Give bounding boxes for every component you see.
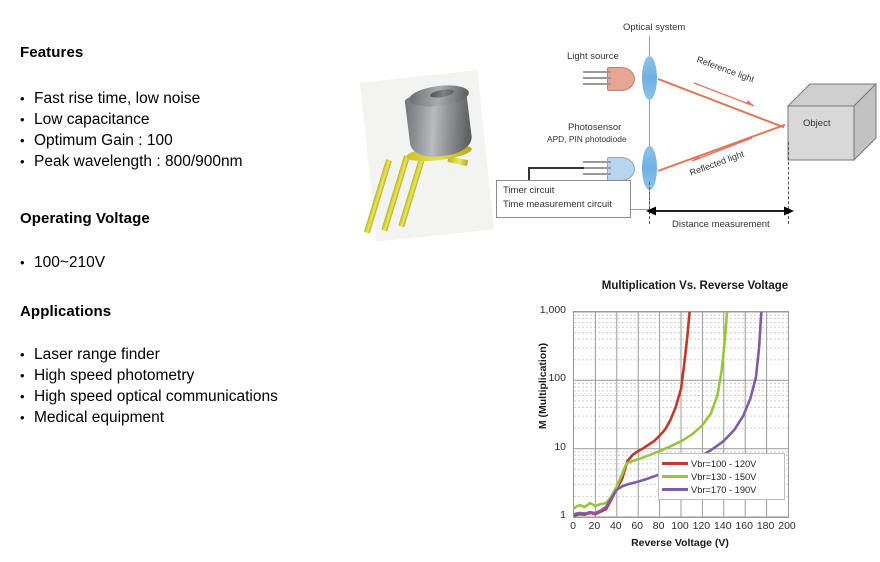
list-item: • 100~210V [20, 252, 105, 273]
list-item-label: High speed photometry [34, 365, 194, 386]
list-item: • Peak wavelength : 800/900nm [20, 151, 243, 172]
features-bullet-list: • Fast rise time, low noise • Low capaci… [20, 88, 243, 172]
list-item-label: 100~210V [34, 252, 105, 273]
list-item-label: High speed optical communications [34, 386, 278, 407]
legend-item[interactable]: Vbr=100 - 120V [662, 457, 780, 470]
chart-y-tick: 10 [520, 441, 566, 453]
features-text-column: Features • Fast rise time, low noise • L… [0, 0, 350, 562]
optical-axis-line-mid [649, 98, 650, 146]
photosensor-label: Photosensor [568, 122, 621, 133]
photosensor-sub-label: APD, PIN photodiode [547, 134, 627, 144]
object-cube-icon [786, 82, 878, 164]
photosensor-legs-icon [583, 158, 609, 178]
legend-item-label: Vbr=170 - 190V [691, 485, 756, 495]
optical-ranging-diagram: Optical system Light source Photosensor … [490, 22, 880, 244]
chart-x-axis-label: Reverse Voltage (V) [573, 537, 787, 549]
chart-y-tick: 100 [520, 372, 566, 384]
chart-x-tick: 40 [605, 520, 627, 532]
reference-light-ray [658, 78, 785, 128]
light-source-led-icon [607, 67, 635, 91]
sensor-wire-horizontal [528, 167, 584, 169]
list-item-label: Fast rise time, low noise [34, 88, 200, 109]
bullet-icon: • [20, 386, 34, 407]
chart-x-tick: 160 [733, 520, 755, 532]
list-item: • Low capacitance [20, 109, 243, 130]
photosensor-led-icon [607, 157, 635, 181]
list-item: • Medical equipment [20, 407, 278, 428]
legend-item-label: Vbr=130 - 150V [691, 472, 756, 482]
light-source-legs-icon [583, 68, 609, 88]
chart-x-tick: 80 [648, 520, 670, 532]
applications-bullet-list: • Laser range finder • High speed photom… [20, 344, 278, 428]
list-item: • Optimum Gain : 100 [20, 130, 243, 151]
multiplication-vs-reverse-voltage-chart: Multiplication Vs. Reverse Voltage M (Mu… [520, 275, 820, 560]
bullet-icon: • [20, 252, 34, 273]
timer-circuit-line2: Time measurement circuit [503, 199, 612, 210]
chart-legend: Vbr=100 - 120VVbr=130 - 150VVbr=170 - 19… [658, 453, 785, 500]
chart-x-tick: 200 [776, 520, 798, 532]
timer-circuit-line1: Timer circuit [503, 185, 554, 196]
chart-y-tick: 1 [520, 509, 566, 521]
reference-light-label: Reference light [695, 54, 755, 84]
legend-color-swatch [662, 475, 688, 478]
chart-x-tick: 100 [669, 520, 691, 532]
chart-x-tick: 60 [626, 520, 648, 532]
bullet-icon: • [20, 109, 34, 130]
chart-x-tick: 20 [583, 520, 605, 532]
light-source-label: Light source [567, 51, 619, 62]
bullet-icon: • [20, 130, 34, 151]
list-item-label: Medical equipment [34, 407, 164, 428]
legend-item[interactable]: Vbr=170 - 190V [662, 483, 780, 496]
distance-measurement-label: Distance measurement [672, 219, 770, 230]
legend-color-swatch [662, 462, 688, 465]
legend-item-label: Vbr=100 - 120V [691, 459, 756, 469]
list-item-label: Low capacitance [34, 109, 149, 130]
operating-voltage-bullet-list: • 100~210V [20, 252, 105, 273]
applications-heading: Applications [20, 303, 111, 320]
legend-item[interactable]: Vbr=130 - 150V [662, 470, 780, 483]
bullet-icon: • [20, 365, 34, 386]
chart-x-tick: 180 [755, 520, 777, 532]
operating-voltage-heading: Operating Voltage [20, 210, 150, 227]
list-item-label: Laser range finder [34, 344, 160, 365]
list-item-label: Peak wavelength : 800/900nm [34, 151, 243, 172]
chart-title: Multiplication Vs. Reverse Voltage [580, 280, 810, 292]
optical-system-label: Optical system [623, 22, 685, 33]
bullet-icon: • [20, 344, 34, 365]
features-heading: Features [20, 44, 83, 61]
chart-y-axis-label: M (Multiplication) [537, 311, 549, 461]
object-label: Object [803, 118, 830, 129]
legend-color-swatch [662, 488, 688, 491]
bullet-icon: • [20, 88, 34, 109]
chart-x-tick: 140 [712, 520, 734, 532]
chart-y-tick: 1,000 [520, 304, 566, 316]
timer-circuit-box: Timer circuit Time measurement circuit [496, 180, 631, 218]
list-item-label: Optimum Gain : 100 [34, 130, 173, 151]
list-item: • High speed optical communications [20, 386, 278, 407]
distance-measurement-arrow [645, 204, 797, 218]
bullet-icon: • [20, 407, 34, 428]
list-item: • High speed photometry [20, 365, 278, 386]
bullet-icon: • [20, 151, 34, 172]
list-item: • Laser range finder [20, 344, 278, 365]
optical-axis-line-top [649, 36, 650, 56]
reflected-light-label: Reflected light [688, 149, 745, 178]
chart-x-tick: 120 [690, 520, 712, 532]
lens-top-icon [642, 56, 657, 100]
list-item: • Fast rise time, low noise [20, 88, 243, 109]
chart-x-tick: 0 [562, 520, 584, 532]
